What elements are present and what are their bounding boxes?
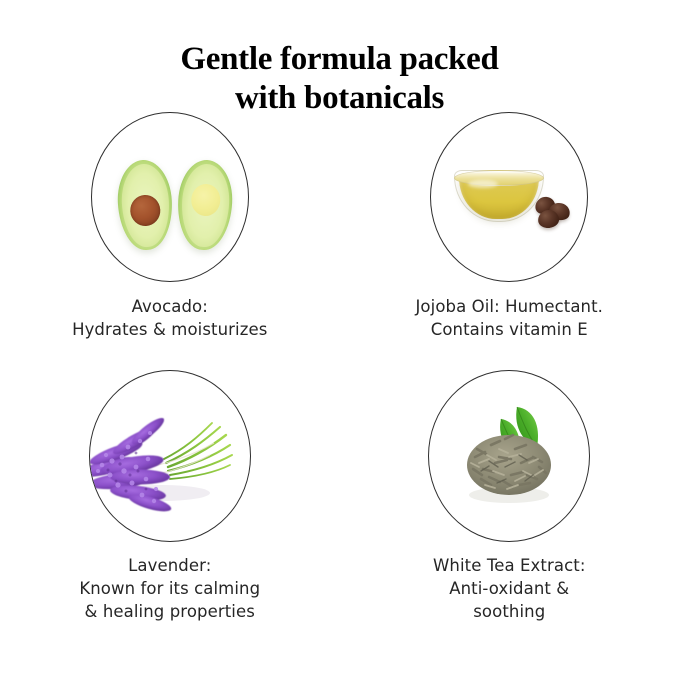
white-tea-image-circle: [428, 370, 590, 542]
jojoba-oil-bowl-image: [431, 113, 587, 281]
ingredient-grid: Avocado: Hydrates & moisturizes Jojoba O…: [0, 112, 679, 623]
page-title: Gentle formula packed with botanicals: [0, 40, 679, 118]
avocado-pit-cavity: [190, 183, 221, 216]
avocado-caption: Avocado: Hydrates & moisturizes: [72, 295, 267, 341]
lavender-caption: Lavender: Known for its calming & healin…: [79, 554, 260, 623]
jojoba-image-circle: [430, 112, 588, 282]
ingredients-infographic: Gentle formula packed with botanicals Av…: [0, 0, 679, 679]
lavender-image-circle: [89, 370, 251, 542]
title-line-1: Gentle formula packed: [0, 40, 679, 79]
white-tea-caption: White Tea Extract: Anti-oxidant & soothi…: [433, 554, 585, 623]
jojoba-oil-caption: Jojoba Oil: Humectant. Contains vitamin …: [415, 295, 603, 341]
ingredient-cell-lavender: Lavender: Known for its calming & healin…: [0, 370, 340, 623]
avocado-image-circle: [91, 112, 249, 282]
ingredient-cell-jojoba-oil: Jojoba Oil: Humectant. Contains vitamin …: [340, 112, 679, 370]
avocado-pit: [129, 195, 161, 228]
lavender-bundle-image: [90, 371, 251, 542]
ingredient-cell-avocado: Avocado: Hydrates & moisturizes: [0, 112, 340, 370]
ingredient-cell-white-tea: White Tea Extract: Anti-oxidant & soothi…: [340, 370, 679, 623]
avocado-half-with-pit: [115, 159, 174, 252]
white-tea-leaves-image: [429, 371, 590, 542]
avocado-half-hollow: [175, 159, 234, 252]
avocado-halves-image: [92, 113, 248, 281]
